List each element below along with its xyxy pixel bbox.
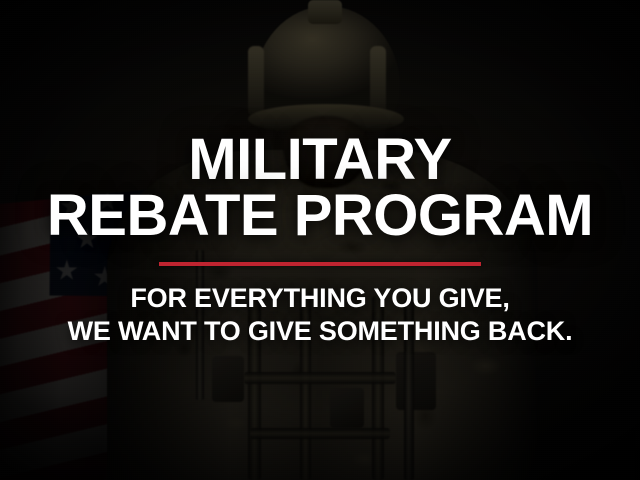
poster-content: MILITARY REBATE PROGRAM FOR EVERYTHING Y… bbox=[0, 0, 640, 480]
headline-line-1: MILITARY bbox=[47, 132, 593, 188]
poster-canvas: MILITARY REBATE PROGRAM FOR EVERYTHING Y… bbox=[0, 0, 640, 480]
subtitle-line-2: WE WANT TO GIVE SOMETHING BACK. bbox=[68, 315, 573, 348]
accent-divider-rule bbox=[159, 262, 481, 266]
subtitle-line-1: FOR EVERYTHING YOU GIVE, bbox=[68, 282, 573, 315]
page-subtitle: FOR EVERYTHING YOU GIVE, WE WANT TO GIVE… bbox=[68, 282, 573, 348]
page-title: MILITARY REBATE PROGRAM bbox=[47, 132, 593, 245]
headline-line-2: REBATE PROGRAM bbox=[47, 188, 593, 244]
